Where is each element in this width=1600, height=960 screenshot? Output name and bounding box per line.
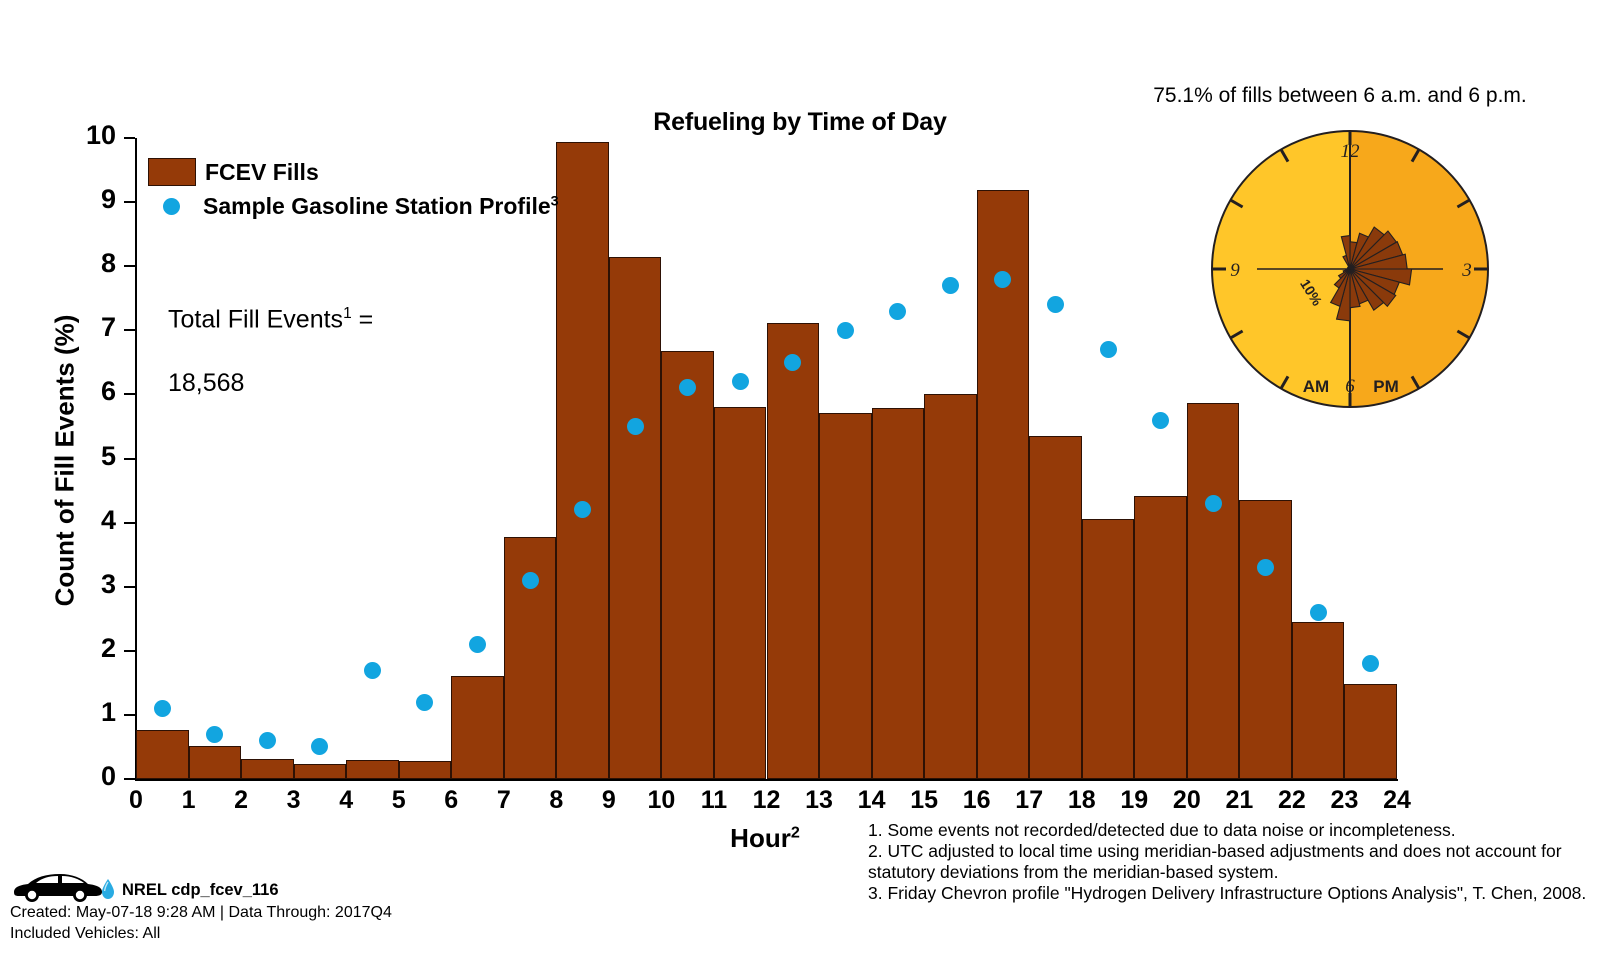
y-tick-mark bbox=[124, 714, 135, 716]
footnote-2: 2. UTC adjusted to local time using meri… bbox=[868, 841, 1598, 883]
x-tick-label: 6 bbox=[421, 786, 481, 815]
x-tick-label: 13 bbox=[789, 786, 849, 815]
x-tick-label: 7 bbox=[474, 786, 534, 815]
x-axis-title-footnote-marker: 2 bbox=[791, 823, 800, 841]
scatter-dot bbox=[994, 271, 1011, 288]
scatter-dot bbox=[627, 418, 644, 435]
x-tick-label: 21 bbox=[1209, 786, 1269, 815]
total-fill-events-label: Total Fill Events bbox=[168, 305, 343, 333]
brand-created-line: Created: May-07-18 9:28 AM | Data Throug… bbox=[10, 902, 490, 923]
scatter-dot bbox=[259, 732, 276, 749]
rose-label-3: 3 bbox=[1461, 260, 1472, 281]
scatter-dot bbox=[942, 277, 959, 294]
x-tick-label: 14 bbox=[842, 786, 902, 815]
y-tick-mark bbox=[124, 137, 135, 139]
x-tick-label: 18 bbox=[1052, 786, 1112, 815]
brand-row: NREL cdp_fcev_116 bbox=[10, 868, 490, 902]
x-tick-label: 15 bbox=[894, 786, 954, 815]
x-tick-label: 23 bbox=[1314, 786, 1374, 815]
x-tick-label: 11 bbox=[684, 786, 744, 815]
x-tick-label: 19 bbox=[1104, 786, 1164, 815]
legend-dot-swatch bbox=[148, 198, 194, 215]
brand-label: NREL cdp_fcev_116 bbox=[122, 881, 279, 900]
legend-bar-swatch bbox=[148, 158, 196, 186]
x-tick-label: 20 bbox=[1157, 786, 1217, 815]
scatter-dot bbox=[1205, 495, 1222, 512]
nrel-branding: NREL cdp_fcev_116 Created: May-07-18 9:2… bbox=[10, 868, 490, 944]
legend-dot-label: Sample Gasoline Station Profile3 bbox=[203, 193, 559, 220]
legend-dot-footnote-marker: 3 bbox=[551, 193, 559, 209]
legend-item-gasoline-profile[interactable]: Sample Gasoline Station Profile3 bbox=[148, 189, 559, 223]
x-tick-label: 22 bbox=[1262, 786, 1322, 815]
page-title: Refueling by Time of Day bbox=[600, 108, 1000, 137]
scatter-dot bbox=[469, 636, 486, 653]
y-tick-mark bbox=[124, 650, 135, 652]
footnotes: 1. Some events not recorded/detected due… bbox=[868, 820, 1598, 904]
legend: FCEV Fills Sample Gasoline Station Profi… bbox=[148, 155, 559, 223]
x-tick-label: 12 bbox=[737, 786, 797, 815]
legend-item-fcev-fills[interactable]: FCEV Fills bbox=[148, 155, 559, 189]
scatter-dot bbox=[1100, 341, 1117, 358]
scatter-dot bbox=[1152, 412, 1169, 429]
x-tick-label: 4 bbox=[316, 786, 376, 815]
x-tick-label: 16 bbox=[947, 786, 1007, 815]
legend-dot-marker bbox=[163, 198, 180, 215]
y-axis-title: Count of Fill Events (%) bbox=[50, 201, 81, 721]
scatter-series bbox=[136, 138, 1397, 779]
x-tick-label: 3 bbox=[264, 786, 324, 815]
scatter-dot bbox=[574, 501, 591, 518]
x-axis-title-text: Hour bbox=[730, 823, 791, 853]
y-tick-mark bbox=[124, 393, 135, 395]
x-axis-line bbox=[135, 779, 1398, 781]
scatter-dot bbox=[837, 322, 854, 339]
x-tick-label: 8 bbox=[526, 786, 586, 815]
x-tick-label: 2 bbox=[211, 786, 271, 815]
scatter-dot bbox=[206, 726, 223, 743]
scatter-dot bbox=[732, 373, 749, 390]
scatter-dot bbox=[784, 354, 801, 371]
y-tick-mark bbox=[124, 329, 135, 331]
scatter-dot bbox=[679, 379, 696, 396]
rose-caption: 75.1% of fills between 6 a.m. and 6 p.m. bbox=[1100, 84, 1580, 108]
total-fill-events-footnote-marker: 1 bbox=[343, 305, 352, 322]
total-fill-events-annotation: Total Fill Events1 = 18,568 bbox=[168, 266, 373, 399]
footnote-3: 3. Friday Chevron profile "Hydrogen Deli… bbox=[868, 883, 1598, 904]
x-tick-label: 5 bbox=[369, 786, 429, 815]
water-drop-icon bbox=[100, 878, 116, 900]
y-tick-mark bbox=[124, 586, 135, 588]
x-tick-label: 9 bbox=[579, 786, 639, 815]
y-tick-mark bbox=[124, 201, 135, 203]
scatter-dot bbox=[154, 700, 171, 717]
legend-bar-label: FCEV Fills bbox=[205, 159, 319, 186]
scatter-dot bbox=[1047, 296, 1064, 313]
scatter-dot bbox=[889, 303, 906, 320]
y-tick-mark bbox=[124, 458, 135, 460]
legend-dot-label-text: Sample Gasoline Station Profile bbox=[203, 193, 551, 219]
y-tick-mark bbox=[124, 778, 135, 780]
x-tick-label: 24 bbox=[1367, 786, 1427, 815]
y-tick-mark bbox=[124, 522, 135, 524]
scatter-dot bbox=[1310, 604, 1327, 621]
footnote-1: 1. Some events not recorded/detected due… bbox=[868, 820, 1598, 841]
scatter-dot bbox=[1257, 559, 1274, 576]
x-tick-label: 1 bbox=[159, 786, 219, 815]
x-tick-label: 17 bbox=[999, 786, 1059, 815]
total-fill-events-value: 18,568 bbox=[168, 369, 244, 397]
scatter-dot bbox=[311, 738, 328, 755]
scatter-dot bbox=[416, 694, 433, 711]
scatter-dot bbox=[1362, 655, 1379, 672]
y-tick-label: 10 bbox=[56, 120, 116, 151]
x-tick-label: 10 bbox=[631, 786, 691, 815]
y-tick-mark bbox=[124, 265, 135, 267]
car-icon bbox=[10, 868, 106, 902]
scatter-dot bbox=[364, 662, 381, 679]
x-tick-label: 0 bbox=[106, 786, 166, 815]
scatter-dot bbox=[522, 572, 539, 589]
brand-included-vehicles-line: Included Vehicles: All bbox=[10, 923, 490, 944]
